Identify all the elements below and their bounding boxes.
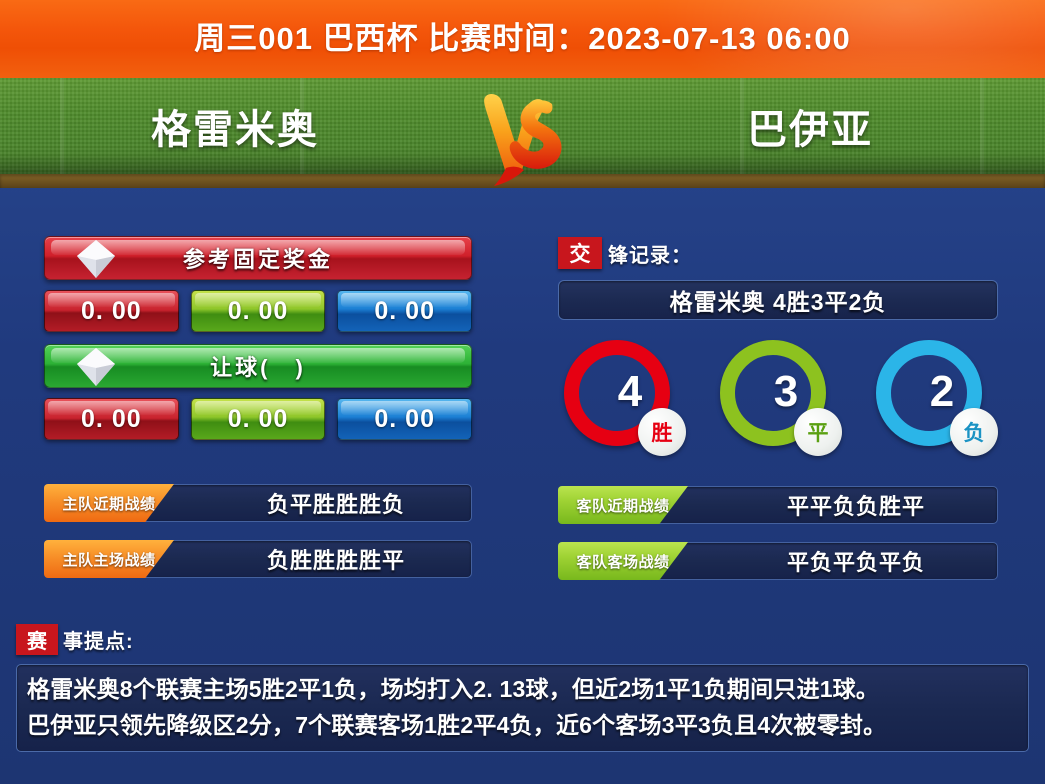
away-recent-form-row: 平平负负胜平 客队近期战绩 — [558, 486, 998, 524]
h2h-lose-count: 2 — [930, 370, 954, 414]
home-recent-form-row: 负平胜胜胜负 主队近期战绩 — [44, 484, 472, 522]
home-team-name: 格雷米奥 — [0, 100, 470, 160]
odds-value: 0. 00 — [374, 405, 435, 434]
h2h-ring-lose: 2 负 — [876, 340, 982, 446]
h2h-title: 锋记录： — [608, 239, 692, 268]
home-home-form-value: 负胜胜胜胜平 — [140, 540, 472, 578]
h2h-ring-win: 4 胜 — [564, 340, 670, 446]
odds-value: 0. 00 — [228, 297, 289, 326]
teams-banner: 格雷米奥 巴伊亚 — [0, 78, 1045, 188]
h2h-panel: 交 锋记录： 格雷米奥 4胜3平2负 4 胜 3 平 2 负 平平负负胜平 客队… — [558, 236, 998, 580]
away-team-name: 巴伊亚 — [575, 100, 1045, 160]
notes-title: 事提点: — [63, 625, 134, 654]
notes-line: 巴伊亚只领先降级区2分，7个联赛客场1胜2平4负，近6个客场3平3负且4次被零封… — [27, 707, 1018, 743]
h2h-draw-label: 平 — [794, 408, 842, 456]
away-recent-form-value: 平平负负胜平 — [654, 486, 998, 524]
h2h-win-label: 胜 — [638, 408, 686, 456]
fixed-prize-header: 参考固定奖金 — [44, 236, 472, 280]
home-home-form-row: 负胜胜胜胜平 主队主场战绩 — [44, 540, 472, 578]
fixed-odds-draw[interactable]: 0. 00 — [191, 290, 326, 332]
h2h-draw-count: 3 — [774, 370, 798, 414]
fixed-odds-home[interactable]: 0. 00 — [44, 290, 179, 332]
fixed-odds-away[interactable]: 0. 00 — [337, 290, 472, 332]
notes-header: 赛 事提点: — [16, 622, 1029, 656]
notes-line: 格雷米奥8个联赛主场5胜2平1负，场均打入2. 13球，但近2场1平1负期间只进… — [27, 671, 1018, 707]
h2h-header: 交 锋记录： — [558, 236, 998, 270]
match-notes: 赛 事提点: 格雷米奥8个联赛主场5胜2平1负，场均打入2. 13球，但近2场1… — [16, 622, 1029, 752]
vs-icon — [466, 84, 578, 188]
odds-panel: 参考固定奖金 0. 00 0. 00 0. 00 让球( ) — [44, 236, 472, 578]
handicap-odds-row: 0. 00 0. 00 0. 00 — [44, 398, 472, 440]
fixed-prize-odds-row: 0. 00 0. 00 0. 00 — [44, 290, 472, 332]
h2h-win-count: 4 — [618, 370, 642, 414]
handicap-header: 让球( ) — [44, 344, 472, 388]
page-title: 周三001 巴西杯 比赛时间：2023-07-13 06:00 — [0, 0, 1045, 78]
away-away-form-row: 平负平负平负 客队客场战绩 — [558, 542, 998, 580]
home-recent-form-value: 负平胜胜胜负 — [140, 484, 472, 522]
handicap-odds-draw[interactable]: 0. 00 — [191, 398, 326, 440]
header-bar: 周三001 巴西杯 比赛时间：2023-07-13 06:00 — [0, 0, 1045, 78]
diamond-icon — [71, 234, 121, 284]
h2h-rings: 4 胜 3 平 2 负 — [558, 340, 998, 446]
match-preview-page: 周三001 巴西杯 比赛时间：2023-07-13 06:00 格雷米奥 — [0, 0, 1045, 784]
diamond-icon — [71, 342, 121, 392]
h2h-badge: 交 — [558, 237, 602, 269]
handicap-title: 让球( ) — [210, 350, 306, 382]
away-away-form-value: 平负平负平负 — [654, 542, 998, 580]
h2h-summary: 格雷米奥 4胜3平2负 — [558, 280, 998, 320]
fixed-prize-title: 参考固定奖金 — [183, 242, 333, 274]
odds-value: 0. 00 — [228, 405, 289, 434]
h2h-lose-label: 负 — [950, 408, 998, 456]
h2h-ring-draw: 3 平 — [720, 340, 826, 446]
handicap-odds-away[interactable]: 0. 00 — [337, 398, 472, 440]
notes-badge: 赛 — [16, 624, 58, 655]
odds-value: 0. 00 — [81, 297, 142, 326]
odds-value: 0. 00 — [374, 297, 435, 326]
notes-box: 格雷米奥8个联赛主场5胜2平1负，场均打入2. 13球，但近2场1平1负期间只进… — [16, 664, 1029, 752]
handicap-odds-home[interactable]: 0. 00 — [44, 398, 179, 440]
odds-value: 0. 00 — [81, 405, 142, 434]
